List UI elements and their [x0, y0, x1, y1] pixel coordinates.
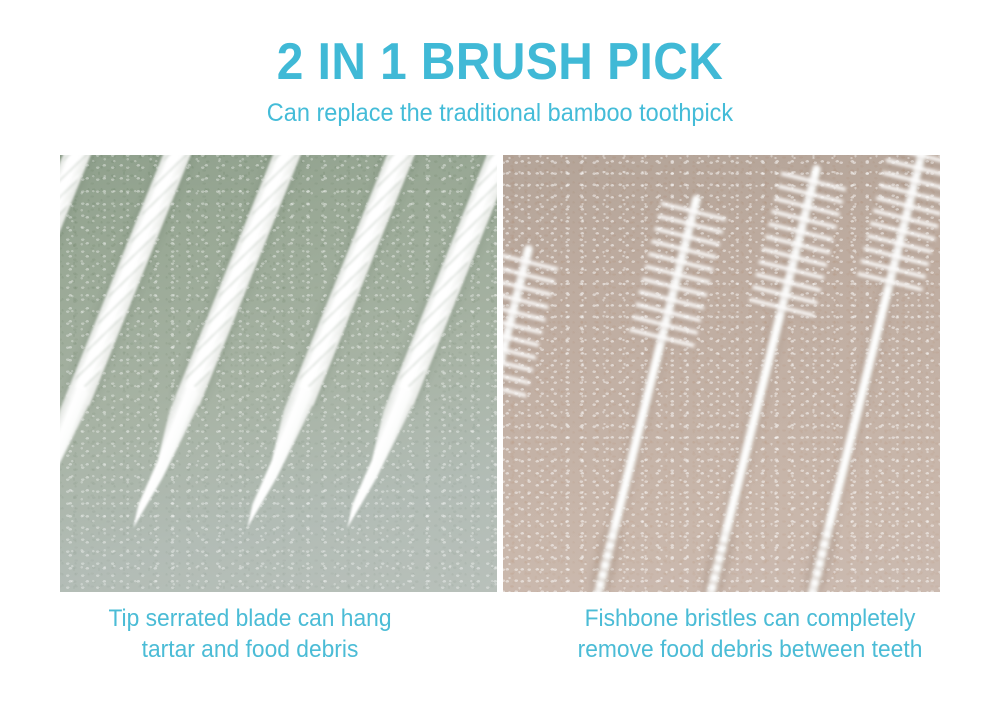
- left-photo-caption: Tip serrated blade can hang tartar and f…: [13, 604, 488, 665]
- photo-panels: [60, 155, 940, 592]
- left-product-photo: [60, 155, 497, 592]
- caption-line: tartar and food debris: [13, 635, 488, 666]
- right-photo-products: [503, 155, 940, 592]
- caption-line: Fishbone bristles can completely: [513, 604, 988, 635]
- page-title: 2 IN 1 BRUSH PICK: [40, 0, 960, 90]
- fishbone-brush-pick: [503, 244, 534, 592]
- serrated-toothpick: [60, 155, 213, 536]
- right-product-photo: [503, 155, 940, 592]
- product-feature-banner: 2 IN 1 BRUSH PICK Can replace the tradit…: [0, 0, 1000, 703]
- caption-line: Tip serrated blade can hang: [13, 604, 488, 635]
- banner-header: 2 IN 1 BRUSH PICK Can replace the tradit…: [0, 0, 1000, 128]
- page-subtitle: Can replace the traditional bamboo tooth…: [30, 90, 970, 128]
- caption-line: remove food debris between teeth: [513, 635, 988, 666]
- right-photo-caption: Fishbone bristles can completely remove …: [513, 604, 988, 665]
- left-photo-products: [60, 155, 497, 592]
- photo-captions: Tip serrated blade can hang tartar and f…: [0, 604, 1000, 665]
- serrated-toothpick: [337, 155, 497, 536]
- fishbone-brush-pick: [579, 194, 701, 592]
